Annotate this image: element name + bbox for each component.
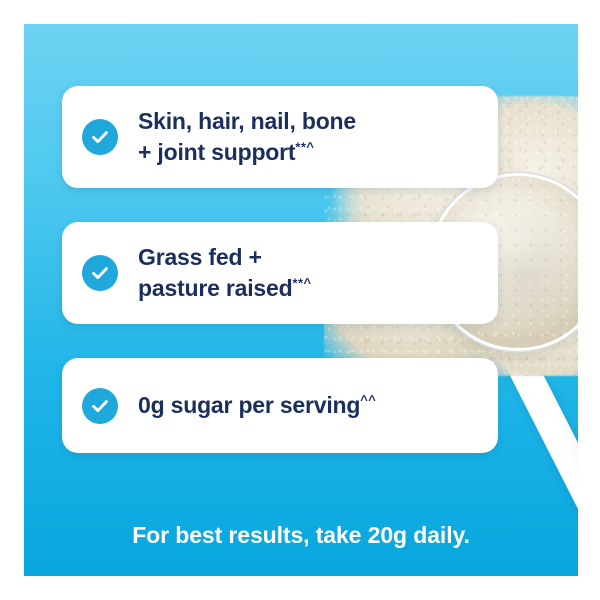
benefit-line-1: 0g sugar per serving bbox=[138, 392, 360, 418]
check-circle-icon bbox=[82, 388, 118, 424]
benefit-superscript: **^ bbox=[295, 139, 314, 154]
benefit-line-2: pasture raised bbox=[138, 275, 292, 301]
benefit-card-grass-fed-pasture-raised: Grass fed + pasture raised**^ bbox=[62, 222, 498, 324]
benefit-superscript: **^ bbox=[292, 275, 311, 290]
benefit-card-text: 0g sugar per serving^^ bbox=[138, 390, 376, 421]
promo-graphic: Skin, hair, nail, bone + joint support**… bbox=[0, 0, 600, 600]
benefit-card-text: Skin, hair, nail, bone + joint support**… bbox=[138, 106, 356, 169]
benefit-line-1: Grass fed + bbox=[138, 244, 262, 270]
blue-background-panel: Skin, hair, nail, bone + joint support**… bbox=[24, 24, 578, 576]
benefit-card-list: Skin, hair, nail, bone + joint support**… bbox=[62, 86, 498, 487]
benefit-card-skin-hair-nail-bone: Skin, hair, nail, bone + joint support**… bbox=[62, 86, 498, 188]
benefit-superscript: ^^ bbox=[360, 392, 376, 407]
check-circle-icon bbox=[82, 119, 118, 155]
benefit-card-zero-sugar: 0g sugar per serving^^ bbox=[62, 358, 498, 453]
check-circle-icon bbox=[82, 255, 118, 291]
benefit-line-1: Skin, hair, nail, bone bbox=[138, 108, 356, 134]
benefit-line-2: + joint support bbox=[138, 139, 295, 165]
dosage-instruction: For best results, take 20g daily. bbox=[24, 522, 578, 549]
benefit-card-text: Grass fed + pasture raised**^ bbox=[138, 242, 312, 305]
